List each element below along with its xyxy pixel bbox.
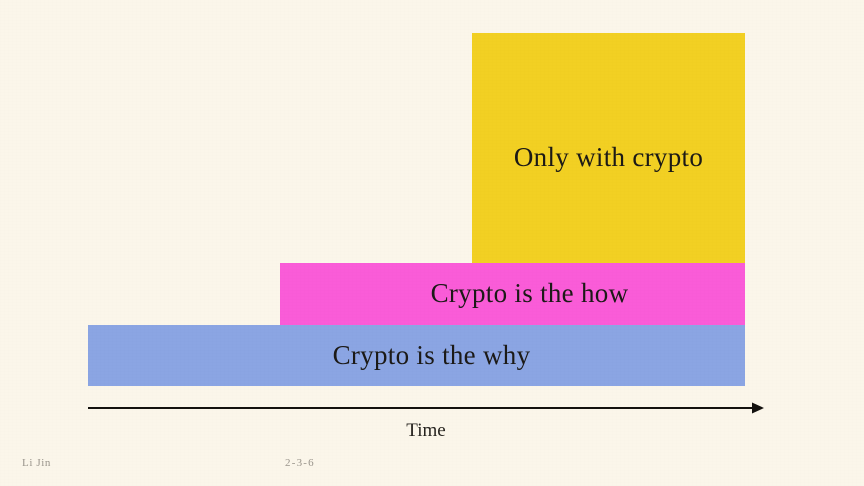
bar-label-crypto-is-the-why: Crypto is the why (333, 341, 531, 371)
footer-page-number: 2-3-6 (285, 457, 315, 469)
bar-label-only-with-crypto: Only with crypto (514, 143, 703, 173)
axis-label-time: Time (0, 420, 852, 442)
bar-only-with-crypto: Only with crypto (472, 33, 745, 263)
time-axis-arrow (88, 400, 764, 416)
bar-label-crypto-is-the-how: Crypto is the how (431, 279, 629, 309)
bar-crypto-is-the-why: Crypto is the why (88, 325, 745, 386)
footer-author: Li Jin (22, 457, 51, 469)
slide-canvas: Only with crypto Crypto is the how Crypt… (0, 0, 864, 486)
bar-crypto-is-the-how: Crypto is the how (280, 263, 745, 325)
arrow-right-icon (88, 400, 764, 416)
